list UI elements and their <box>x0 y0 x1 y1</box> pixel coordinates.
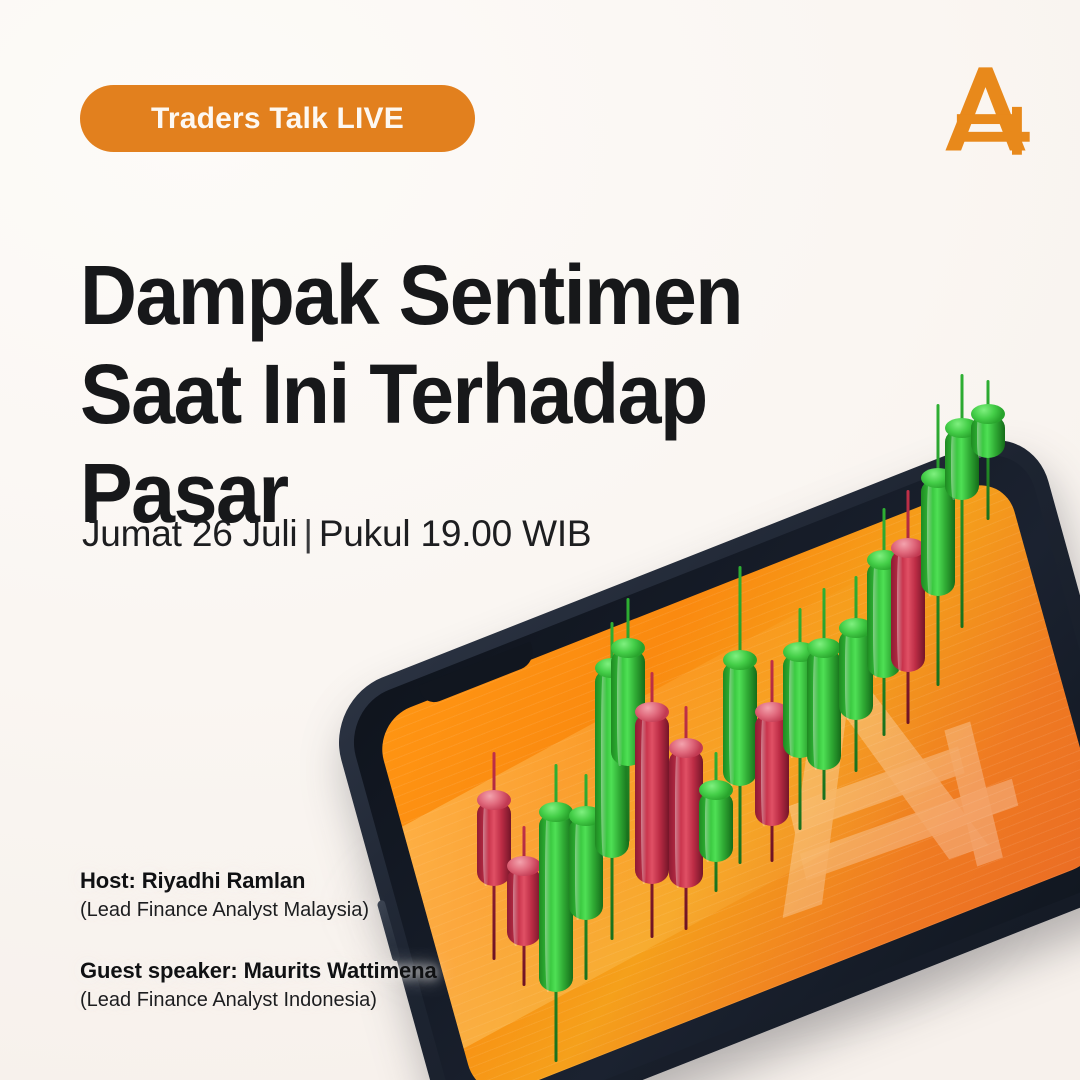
candle-bull <box>723 566 757 864</box>
candle-bear <box>669 706 703 930</box>
candle-highlight <box>575 816 580 920</box>
candle-top-cap <box>539 802 573 822</box>
candle-body <box>891 548 925 672</box>
live-badge[interactable]: Traders Talk LIVE <box>80 85 475 152</box>
guest-credit: Guest speaker: Maurits Wattimena (Lead F… <box>80 958 437 1012</box>
poster-canvas: Traders Talk LIVE Dampak Sentimen Saat I… <box>0 0 1080 1080</box>
host-role: (Lead Finance Analyst Malaysia) <box>80 899 437 922</box>
candle-highlight <box>951 428 956 500</box>
candle-highlight <box>483 800 488 886</box>
candle-bull <box>971 380 1005 520</box>
candle-bull <box>539 764 573 1062</box>
candle-highlight <box>789 652 794 758</box>
candle-highlight <box>761 712 766 826</box>
candle-body <box>507 866 541 946</box>
candle-bear <box>477 752 511 960</box>
octa-a-logo-icon <box>934 58 1038 162</box>
candle-bear <box>891 490 925 724</box>
headline-line-2: Saat Ini Terhadap <box>80 345 794 444</box>
candle-body <box>635 712 669 884</box>
datetime-separator: | <box>297 513 318 554</box>
candle-top-cap <box>477 790 511 810</box>
guest-role: (Lead Finance Analyst Indonesia) <box>80 989 437 1012</box>
candle-top-cap <box>891 538 925 558</box>
candle-body <box>669 748 703 888</box>
candle-highlight <box>601 668 606 858</box>
candle-top-cap <box>507 856 541 876</box>
candle-top-cap <box>611 638 645 658</box>
candle-body <box>807 648 841 770</box>
candle-top-cap <box>669 738 703 758</box>
event-time: Pukul 19.00 WIB <box>319 513 592 554</box>
headline-line-1: Dampak Sentimen <box>80 246 794 345</box>
candle-body <box>539 812 573 992</box>
host-credit: Host: Riyadhi Ramlan (Lead Finance Analy… <box>80 868 437 922</box>
live-badge-label: Traders Talk LIVE <box>151 102 404 136</box>
candle-highlight <box>897 548 902 672</box>
candle-bear <box>507 826 541 986</box>
event-datetime: Jumat 26 Juli|Pukul 19.00 WIB <box>82 513 591 555</box>
candle-highlight <box>845 628 850 720</box>
event-date: Jumat 26 Juli <box>82 513 297 554</box>
candle-top-cap <box>635 702 669 722</box>
candle-highlight <box>873 560 878 678</box>
candle-highlight <box>513 866 518 946</box>
host-name: Host: Riyadhi Ramlan <box>80 868 437 894</box>
candle-highlight <box>927 478 932 596</box>
candle-highlight <box>729 660 734 786</box>
candle-bear <box>635 672 669 938</box>
candle-highlight <box>813 648 818 770</box>
speaker-credits: Host: Riyadhi Ramlan (Lead Finance Analy… <box>80 868 437 1012</box>
candle-highlight <box>705 790 710 862</box>
candle-bull <box>807 588 841 800</box>
candle-body <box>723 660 757 786</box>
candle-highlight <box>641 712 646 884</box>
candle-highlight <box>675 748 680 888</box>
candle-top-cap <box>723 650 757 670</box>
guest-name: Guest speaker: Maurits Wattimena <box>80 958 437 984</box>
candle-highlight <box>545 812 550 992</box>
candle-wick <box>961 374 964 628</box>
candle-top-cap <box>971 404 1005 424</box>
candle-body <box>477 800 511 886</box>
candle-highlight <box>617 648 622 766</box>
page-title: Dampak Sentimen Saat Ini Terhadap Pasar <box>80 246 840 543</box>
candle-top-cap <box>807 638 841 658</box>
